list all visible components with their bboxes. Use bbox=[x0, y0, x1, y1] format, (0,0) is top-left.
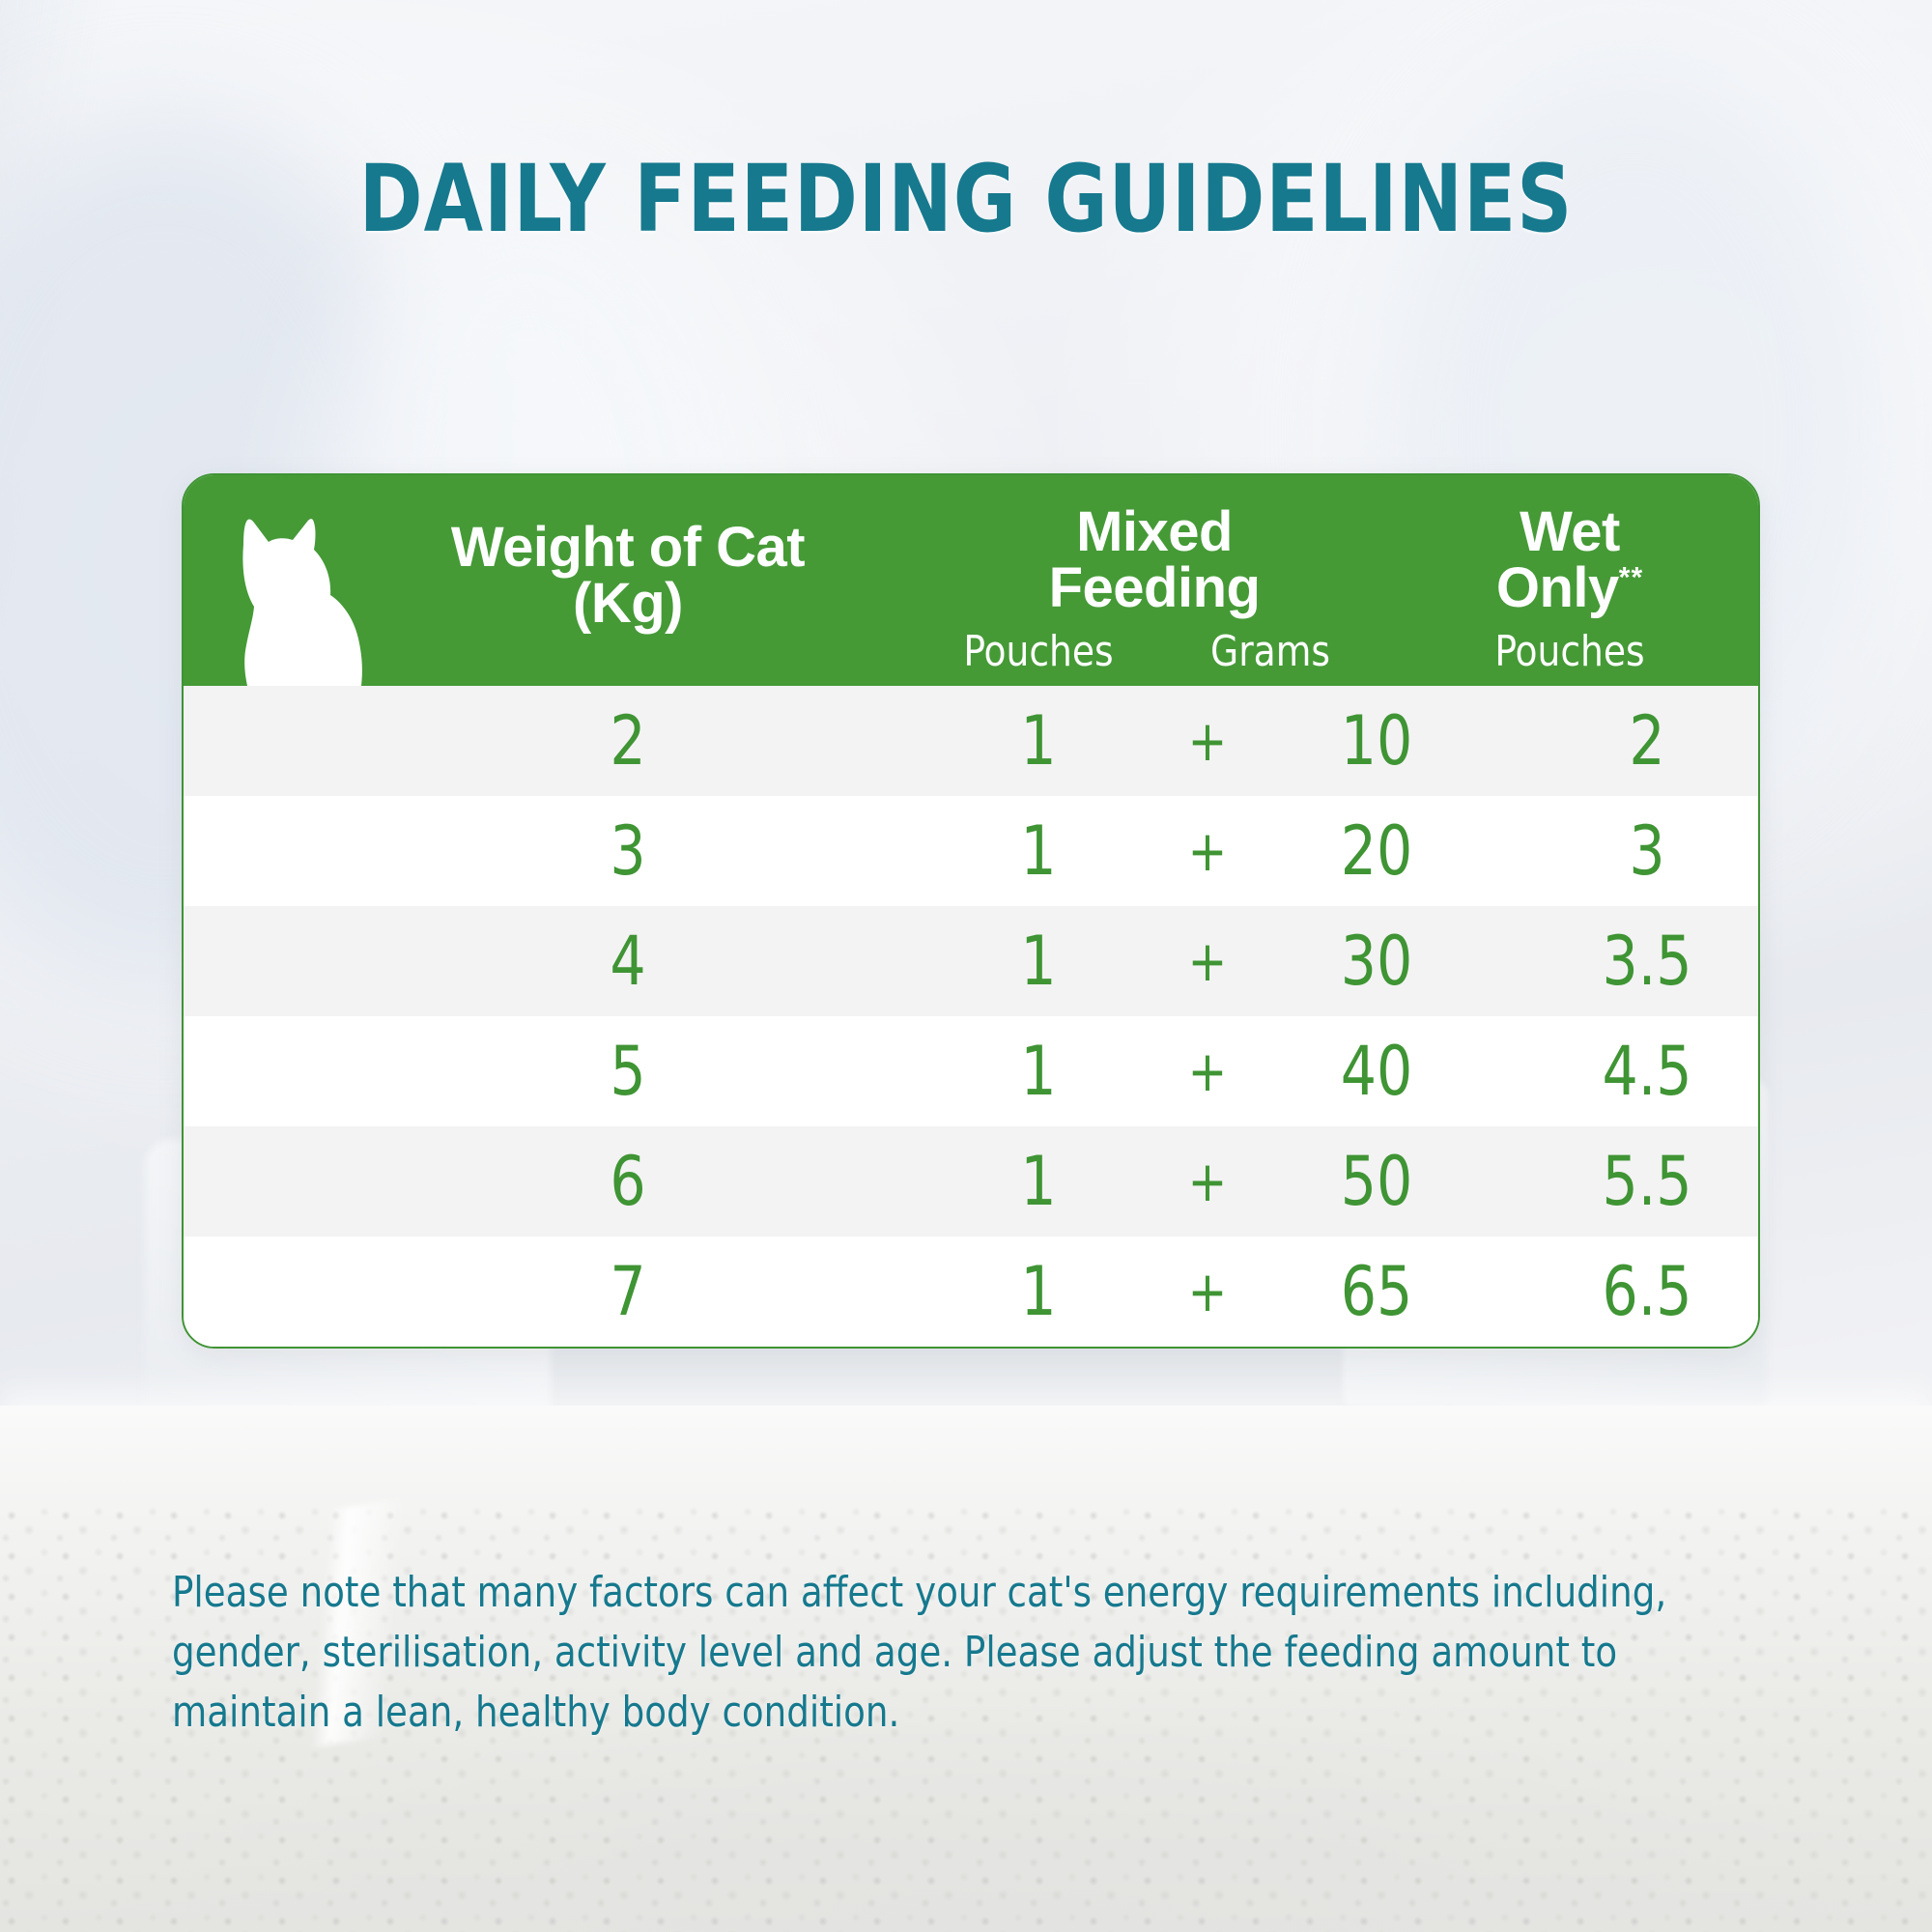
header-wet-line1: Wet bbox=[1520, 500, 1620, 563]
cell-weight: 4 bbox=[350, 906, 907, 1016]
cell-pouches: 1 bbox=[935, 796, 1142, 906]
table-row: 51+404.5 bbox=[184, 1016, 1758, 1126]
cell-pouches: 1 bbox=[935, 906, 1142, 1016]
cell-pouches: 1 bbox=[935, 1126, 1142, 1236]
header-wet-only: Wet Only** bbox=[1381, 504, 1758, 616]
cell-pouches: 1 bbox=[935, 1016, 1142, 1126]
table-header: Weight of Cat (Kg) Mixed Feeding Wet Onl… bbox=[184, 475, 1758, 686]
feeding-guidelines-table: Weight of Cat (Kg) Mixed Feeding Wet Onl… bbox=[182, 473, 1760, 1349]
table-body: 21+10231+20341+303.551+404.561+505.571+6… bbox=[184, 686, 1758, 1347]
header-weight-unit: (Kg) bbox=[573, 572, 683, 635]
cell-wet-pouches: 4.5 bbox=[1544, 1016, 1750, 1126]
subheader-grams: Grams bbox=[1165, 630, 1377, 674]
cell-plus-symbol: + bbox=[1153, 1236, 1262, 1347]
cell-plus-symbol: + bbox=[1153, 1126, 1262, 1236]
header-mixed-line1: Mixed bbox=[1076, 500, 1233, 563]
header-wet-line2: Only bbox=[1496, 556, 1619, 619]
header-weight-label: Weight of Cat bbox=[451, 516, 805, 579]
cell-grams: 50 bbox=[1273, 1126, 1480, 1236]
cell-weight: 6 bbox=[350, 1126, 907, 1236]
cell-wet-pouches: 3 bbox=[1544, 796, 1750, 906]
table-row: 41+303.5 bbox=[184, 906, 1758, 1016]
cell-pouches: 1 bbox=[935, 686, 1142, 796]
cell-plus-symbol: + bbox=[1153, 686, 1262, 796]
cell-grams: 10 bbox=[1273, 686, 1480, 796]
header-mixed-line2: Feeding bbox=[1049, 556, 1261, 619]
table-row: 71+656.5 bbox=[184, 1236, 1758, 1347]
content-layer: DAILY FEEDING GUIDELINES Weight of Cat (… bbox=[0, 0, 1932, 1932]
cell-grams: 65 bbox=[1273, 1236, 1480, 1347]
table-row: 31+203 bbox=[184, 796, 1758, 906]
page-root: DAILY FEEDING GUIDELINES Weight of Cat (… bbox=[0, 0, 1932, 1932]
cell-wet-pouches: 2 bbox=[1544, 686, 1750, 796]
table-row: 61+505.5 bbox=[184, 1126, 1758, 1236]
cell-plus-symbol: + bbox=[1153, 906, 1262, 1016]
footnote: Please note that many factors can affect… bbox=[172, 1563, 1679, 1743]
cell-grams: 20 bbox=[1273, 796, 1480, 906]
header-wet-footnote-marker: ** bbox=[1619, 562, 1643, 594]
cell-weight: 7 bbox=[350, 1236, 907, 1347]
cell-plus-symbol: + bbox=[1153, 1016, 1262, 1126]
cell-wet-pouches: 5.5 bbox=[1544, 1126, 1750, 1236]
cell-pouches: 1 bbox=[935, 1236, 1142, 1347]
cell-weight: 3 bbox=[350, 796, 907, 906]
cell-weight: 2 bbox=[350, 686, 907, 796]
cell-wet-pouches: 3.5 bbox=[1544, 906, 1750, 1016]
cell-grams: 30 bbox=[1273, 906, 1480, 1016]
subheader-pouches-mixed: Pouches bbox=[933, 630, 1145, 674]
cell-weight: 5 bbox=[350, 1016, 907, 1126]
cell-grams: 40 bbox=[1273, 1016, 1480, 1126]
cell-plus-symbol: + bbox=[1153, 796, 1262, 906]
header-weight-of-cat: Weight of Cat (Kg) bbox=[328, 520, 927, 632]
subheader-pouches-wet: Pouches bbox=[1391, 630, 1749, 674]
page-title: DAILY FEEDING GUIDELINES bbox=[77, 145, 1855, 253]
table-row: 21+102 bbox=[184, 686, 1758, 796]
header-mixed-feeding: Mixed Feeding bbox=[927, 504, 1381, 616]
cell-wet-pouches: 6.5 bbox=[1544, 1236, 1750, 1347]
